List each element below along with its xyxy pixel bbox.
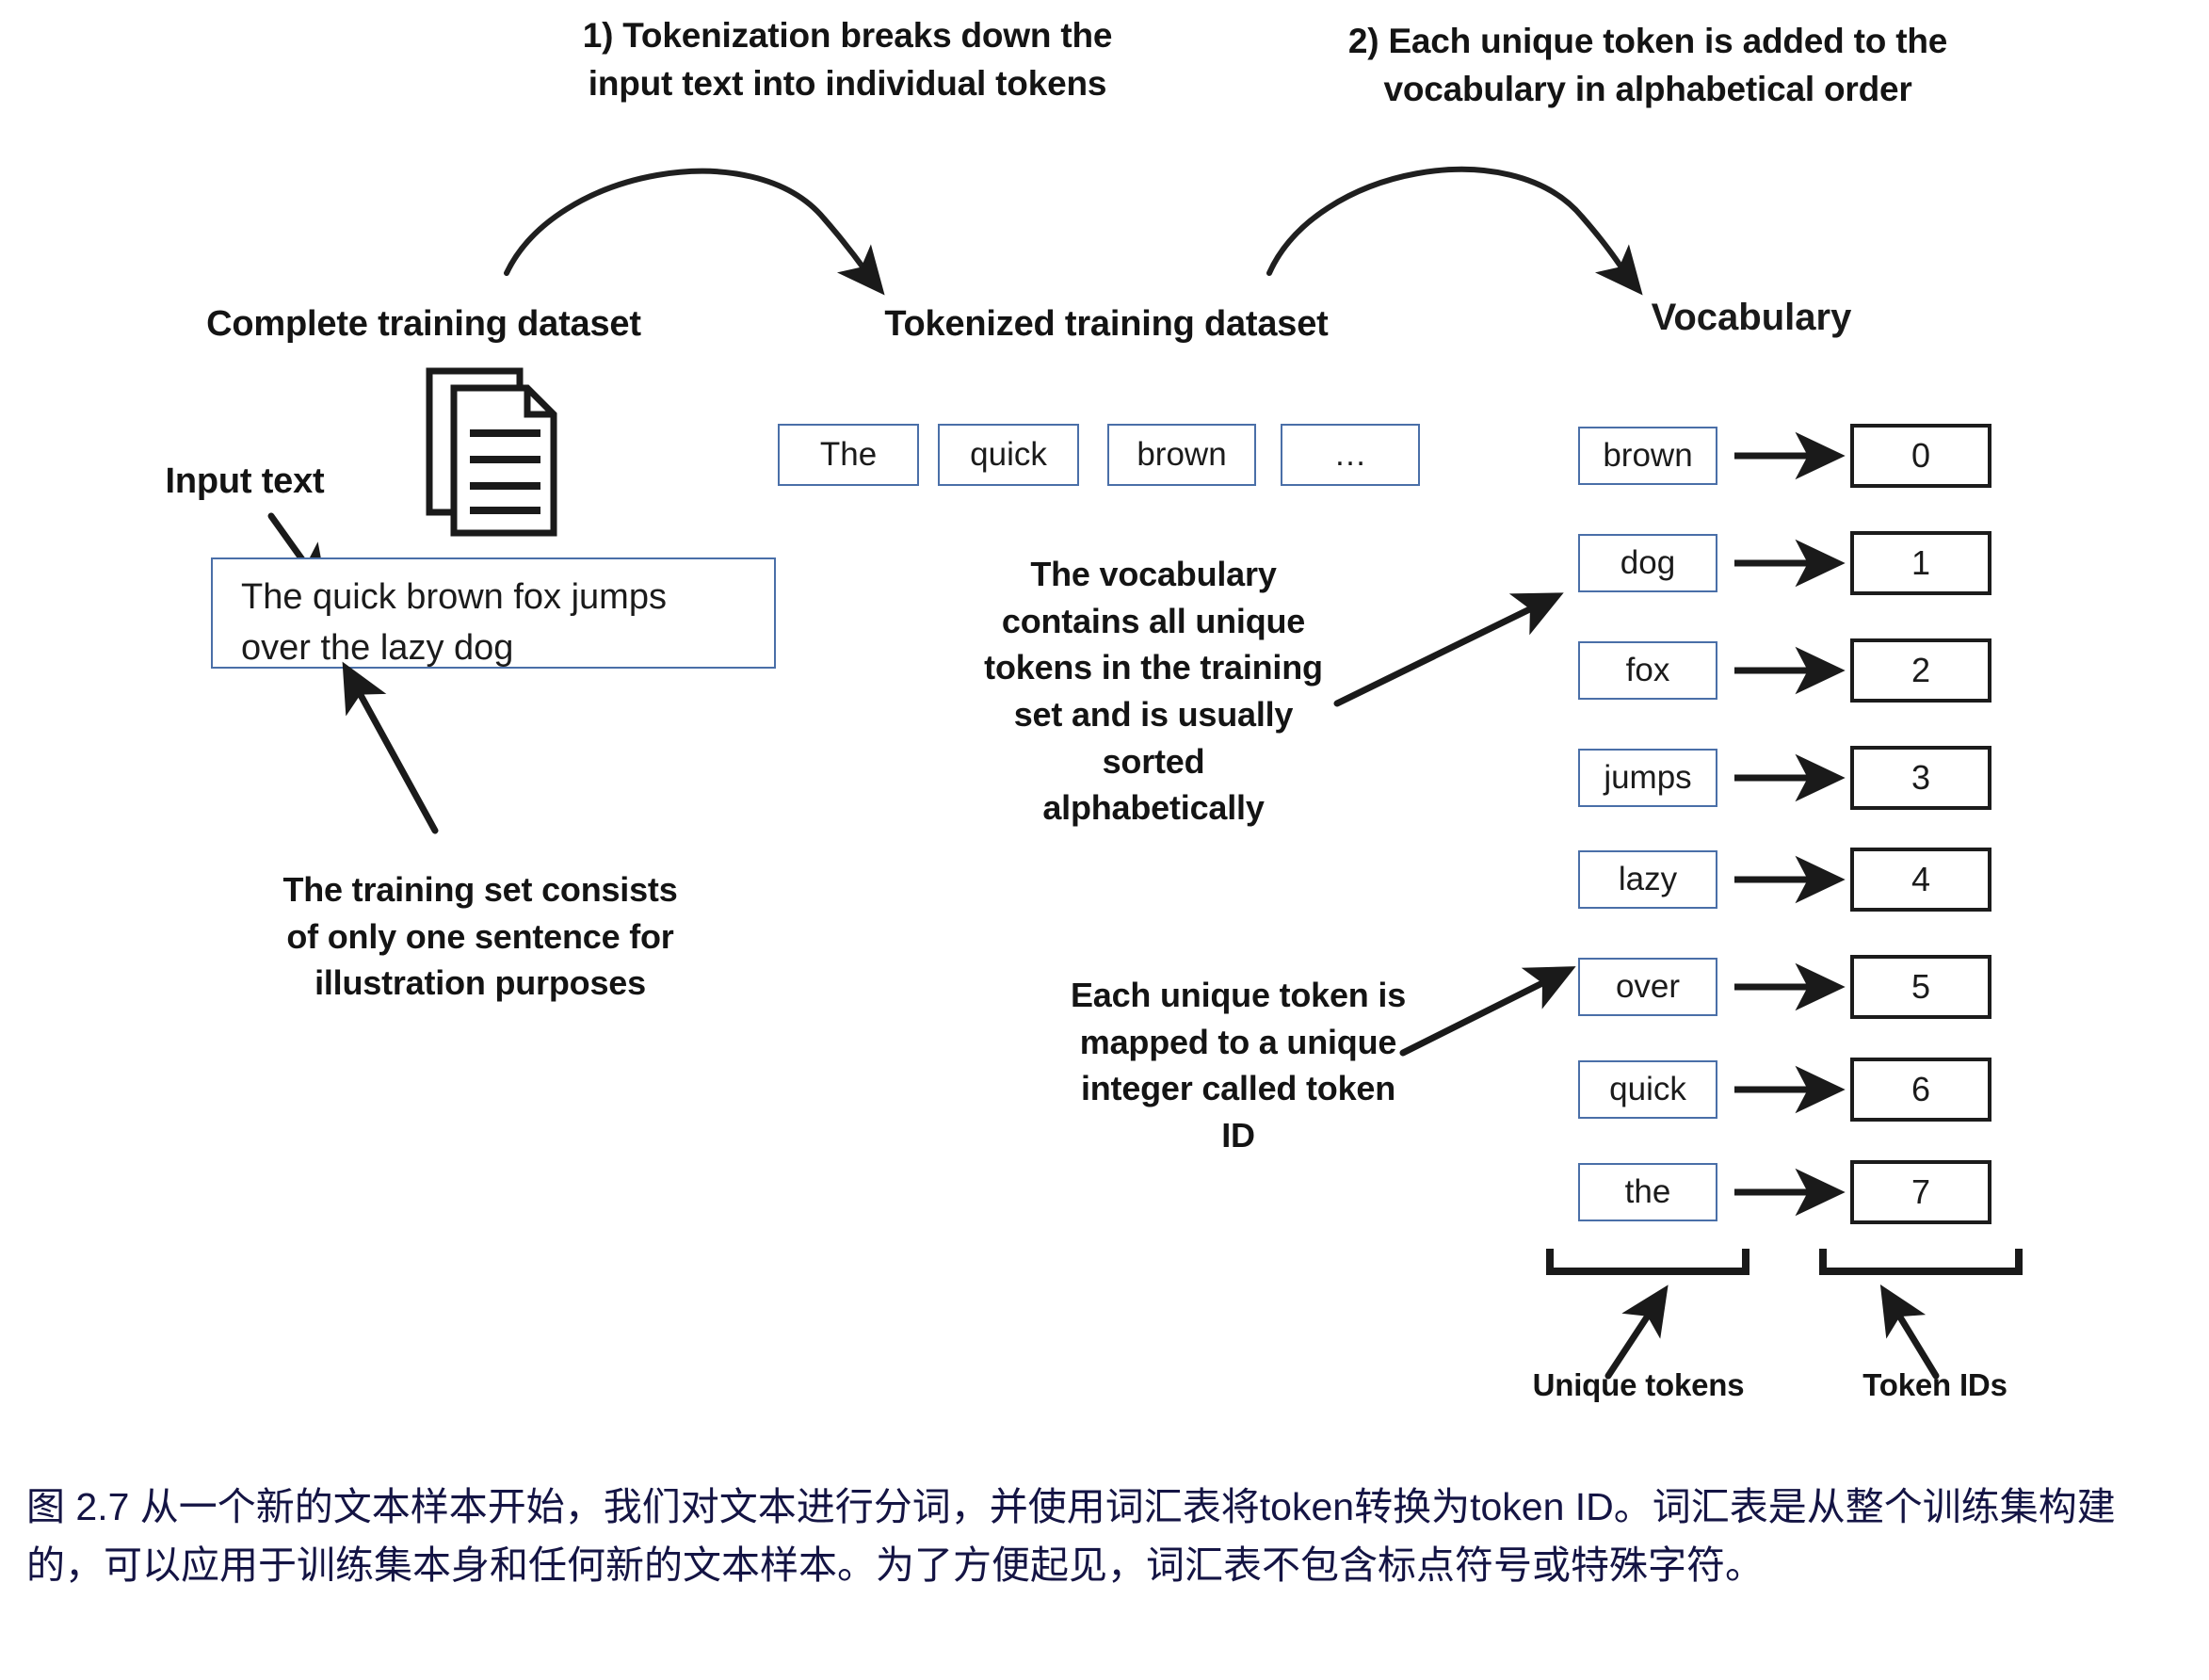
figure-caption: 图 2.7 从一个新的文本样本开始，我们对文本进行分词，并使用词汇表将token… [26,1478,2192,1594]
training-set-note: The training set consists of only one se… [264,866,697,1007]
figure-canvas: 1) Tokenization breaks down the input te… [0,0,2209,1680]
vocab-map-arrow-4 [1733,866,1846,895]
vocab-token-1[interactable]: dog [1578,534,1717,592]
vocab-map-arrow-3 [1733,765,1846,793]
vocab-map-arrow-5 [1733,974,1846,1002]
vocab-map-arrow-1 [1733,550,1846,578]
vocab-token-5[interactable]: over [1578,958,1717,1016]
vocab-id-1[interactable]: 1 [1850,531,1991,595]
token-chip-0[interactable]: The [778,424,919,486]
vocab-id-3[interactable]: 3 [1850,746,1991,810]
vocab-token-7[interactable]: the [1578,1163,1717,1221]
token-ids-bracket-label: Token IDs [1794,1364,2076,1407]
vocab-token-6[interactable]: quick [1578,1060,1717,1119]
unique-tokens-bracket [1544,1243,1751,1281]
vocab-id-0[interactable]: 0 [1850,424,1991,488]
vocab-id-2[interactable]: 2 [1850,638,1991,703]
vocab-map-arrow-7 [1733,1179,1846,1207]
vocab-map-arrow-6 [1733,1076,1846,1105]
vocab-id-5[interactable]: 5 [1850,955,1991,1019]
token-chip-1[interactable]: quick [938,424,1079,486]
heading-vocabulary: Vocabulary [1535,297,1968,339]
input-text-box[interactable]: The quick brown fox jumps over the lazy … [211,557,776,669]
step-2-curved-arrow [1252,141,1893,283]
token-chip-ellipsis[interactable]: … [1281,424,1420,486]
vocab-id-6[interactable]: 6 [1850,1058,1991,1122]
stacked-documents-icon [426,367,557,537]
vocab-token-2[interactable]: fox [1578,641,1717,700]
step-1-curved-arrow [490,141,1130,283]
vocabulary-note-arrow [1328,589,1572,711]
vocab-token-0[interactable]: brown [1578,427,1717,485]
vocab-id-7[interactable]: 7 [1850,1160,1991,1224]
step-2-annotation: 2) Each unique token is added to the voc… [1168,17,2128,113]
token-id-description-note: Each unique token is mapped to a unique … [1050,972,1427,1159]
vocabulary-description-note: The vocabulary contains all unique token… [951,551,1356,832]
vocab-map-arrow-0 [1733,443,1846,471]
heading-complete-dataset: Complete training dataset [169,299,678,348]
token-ids-bracket [1817,1243,2024,1281]
vocab-token-3[interactable]: jumps [1578,749,1717,807]
heading-tokenized-dataset: Tokenized training dataset [838,299,1375,348]
vocab-id-4[interactable]: 4 [1850,848,1991,912]
unique-tokens-bracket-label: Unique tokens [1455,1364,1822,1407]
vocab-token-4[interactable]: lazy [1578,850,1717,909]
input-text-label: Input text [132,457,358,506]
token-chip-2[interactable]: brown [1107,424,1256,486]
token-id-note-arrow [1394,961,1582,1064]
training-set-note-arrow [330,659,452,838]
vocab-map-arrow-2 [1733,657,1846,686]
